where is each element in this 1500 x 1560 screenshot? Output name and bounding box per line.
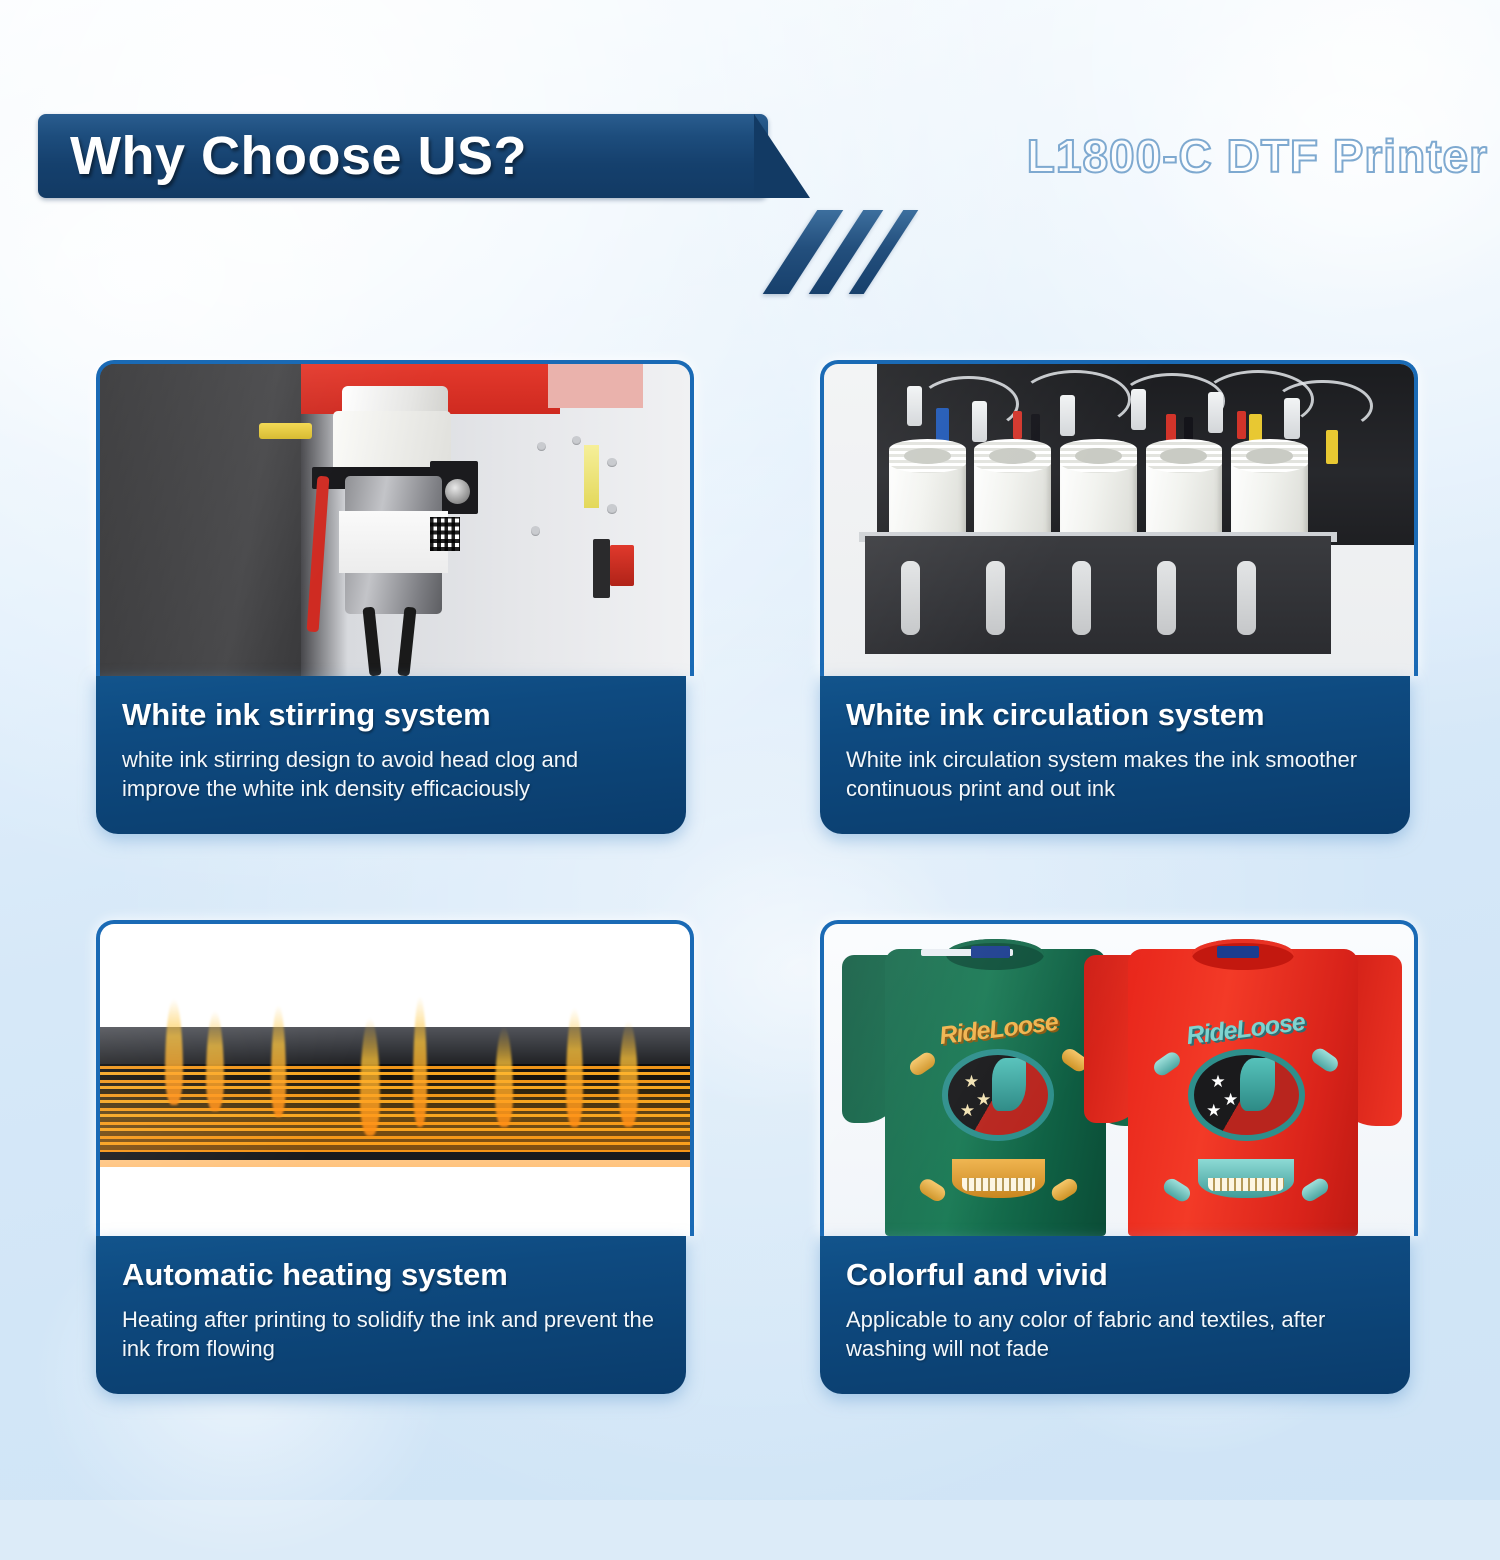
photo-shape	[1013, 411, 1022, 439]
photo-shape	[397, 607, 416, 676]
printed-shirts-photo: RideLoose ★ ★ ★	[820, 920, 1418, 1236]
photo-shape	[607, 504, 616, 513]
photo-shape	[1166, 414, 1175, 442]
photo-shape	[259, 423, 312, 439]
shirt-graphic: RideLoose ★ ★ ★	[1160, 1010, 1332, 1187]
photo-shape	[1284, 398, 1299, 439]
flame	[165, 999, 183, 1105]
feature-card-circulation: White ink circulation system White ink c…	[820, 360, 1410, 834]
photo-shape	[531, 526, 540, 535]
heating-system-photo	[96, 920, 694, 1236]
photo-shape	[972, 401, 987, 442]
card-title: Colorful and vivid	[846, 1258, 1384, 1293]
photo-shape	[100, 364, 301, 676]
card-text-panel: White ink circulation system White ink c…	[820, 676, 1410, 834]
photo-shape	[904, 448, 951, 464]
photo-shape	[1060, 395, 1075, 436]
card-text-panel: Colorful and vivid Applicable to any col…	[820, 1236, 1410, 1394]
card-text-panel: Automatic heating system Heating after p…	[96, 1236, 686, 1394]
photo-shape	[548, 364, 642, 408]
photo-shape	[986, 561, 1005, 636]
feature-card-heating: Automatic heating system Heating after p…	[96, 920, 686, 1394]
page-title: Why Choose US?	[70, 108, 770, 204]
card-description: white ink stirring design to avoid head …	[122, 745, 660, 803]
photo-shape	[610, 545, 634, 586]
stirring-system-photo	[96, 360, 694, 676]
photo-shape	[936, 408, 949, 442]
photo-shape	[100, 1027, 690, 1064]
photo-shape	[901, 561, 920, 636]
card-title: Automatic heating system	[122, 1258, 660, 1293]
photo-shape: ★ ★ ★	[942, 1049, 1055, 1141]
photo-shape	[1031, 414, 1040, 442]
feature-card-stirring: White ink stirring system white ink stir…	[96, 360, 686, 834]
photo-shape	[971, 946, 1011, 958]
card-text-panel: White ink stirring system white ink stir…	[96, 676, 686, 834]
photo-shape	[865, 536, 1331, 655]
photo-shape	[584, 445, 599, 507]
photo-shape	[1160, 448, 1207, 464]
photo-shape	[907, 386, 922, 427]
infographic-page: Why Choose US? L1800-C DTF Printer	[0, 0, 1500, 1500]
photo-shape	[1246, 448, 1293, 464]
photo-shape	[593, 539, 611, 598]
card-description: White ink circulation system makes the i…	[846, 745, 1384, 803]
card-description: Applicable to any color of fabric and te…	[846, 1305, 1384, 1363]
photo-shape	[1237, 411, 1246, 439]
photo-shape	[1131, 389, 1146, 430]
red-tshirt: RideLoose ★ ★ ★	[1084, 930, 1403, 1236]
feature-card-colorful: RideLoose ★ ★ ★	[820, 920, 1410, 1394]
photo-shape	[1075, 448, 1122, 464]
card-description: Heating after printing to solidify the i…	[122, 1305, 660, 1363]
photo-shape	[989, 448, 1036, 464]
photo-shape	[607, 458, 616, 467]
photo-shape	[537, 442, 546, 451]
photo-shape	[1326, 430, 1339, 464]
feature-card-grid: White ink stirring system white ink stir…	[0, 0, 1500, 1500]
card-title: White ink stirring system	[122, 698, 660, 733]
photo-shape	[307, 476, 330, 632]
photo-shape	[1072, 561, 1091, 636]
photo-shape	[1237, 561, 1256, 636]
photo-shape	[962, 1178, 1035, 1190]
photo-shape	[572, 436, 581, 445]
card-title: White ink circulation system	[846, 698, 1384, 733]
circulation-system-photo	[820, 360, 1418, 676]
photo-shape	[1240, 1058, 1276, 1111]
photo-shape	[1208, 392, 1223, 433]
shirt-graphic: RideLoose ★ ★ ★	[915, 1010, 1081, 1187]
photo-shape	[430, 517, 460, 551]
flame	[271, 1005, 286, 1117]
photo-shape	[918, 376, 1018, 432]
photo-shape	[992, 1058, 1026, 1111]
photo-shape: ★ ★ ★	[1188, 1049, 1305, 1141]
photo-shape	[1217, 946, 1258, 958]
photo-shape	[362, 607, 381, 676]
flame	[413, 996, 427, 1127]
photo-shape	[1157, 561, 1176, 636]
photo-shape	[100, 1152, 690, 1160]
photo-shape	[1208, 1178, 1284, 1190]
